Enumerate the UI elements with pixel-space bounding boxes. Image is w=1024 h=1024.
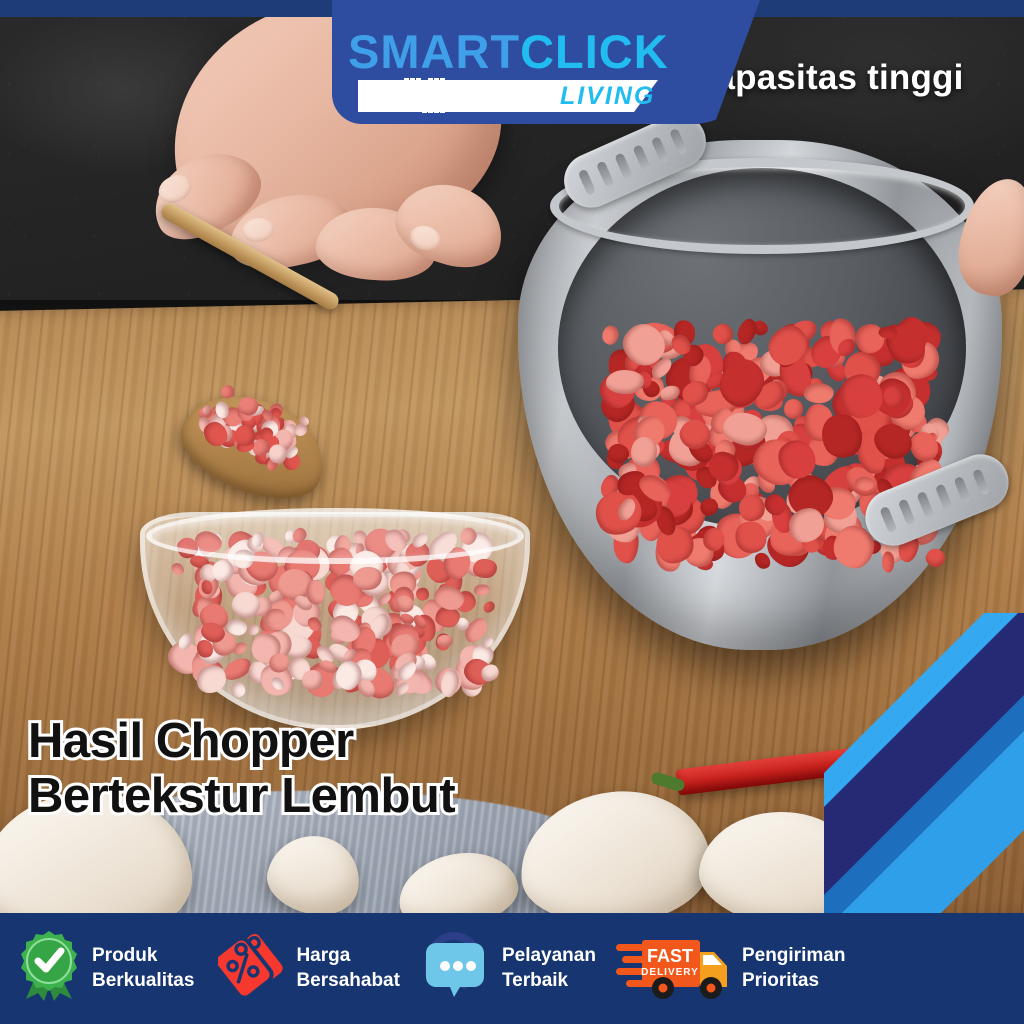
brand-name-smart: SMART <box>348 25 520 78</box>
pixel-block <box>440 96 445 101</box>
pixel-block <box>440 108 445 113</box>
feature-label: Pelayanan Terbaik <box>502 944 596 993</box>
grip-rib <box>898 498 916 525</box>
meat-crumb <box>606 370 644 394</box>
feature-label-line2: Berkualitas <box>92 970 194 991</box>
pixel-block <box>416 96 421 101</box>
pixel-block <box>434 108 439 113</box>
grip-rib <box>916 491 934 518</box>
price-tag-icon <box>218 931 286 1006</box>
feature-label-line1: Pelayanan <box>502 945 596 966</box>
grip-rib <box>632 144 651 171</box>
meat-crumb <box>169 560 187 577</box>
pixel-block <box>416 78 421 83</box>
feature-pengiriman-prioritas: FAST DELIVERY Pengiriman Prioritas <box>616 930 845 1007</box>
truck-text-fast: FAST <box>647 946 693 966</box>
feature-label-line1: Produk <box>92 945 157 966</box>
brand-logo[interactable]: SMARTCLICK <box>348 28 669 75</box>
feature-harga-bersahabat: Harga Bersahabat <box>218 931 400 1006</box>
grip-rib <box>953 476 971 503</box>
pixel-block <box>398 84 403 89</box>
meat-crumb <box>218 383 236 401</box>
pixel-block <box>416 102 421 107</box>
pixel-block <box>422 108 427 113</box>
feature-footer-bar: Produk Berkualitas <box>0 913 1024 1024</box>
pixel-block <box>410 78 415 83</box>
meat-crumb <box>228 679 248 699</box>
pixel-block <box>404 78 409 83</box>
pixel-block <box>404 102 409 107</box>
feature-produk-berkualitas: Produk Berkualitas <box>16 929 194 1008</box>
headline-line-1: Hasil Chopper <box>28 714 455 769</box>
feature-label-line2: Terbaik <box>502 970 568 991</box>
pixel-block <box>392 102 397 107</box>
brand-tagline: LIVING <box>560 84 655 109</box>
fast-delivery-truck-icon: FAST DELIVERY <box>616 930 732 1007</box>
feature-label-line1: Harga <box>296 945 350 966</box>
feature-pelayanan-terbaik: Pelayanan Terbaik <box>422 929 596 1008</box>
pixel-block <box>440 102 445 107</box>
pixel-block <box>404 84 409 89</box>
pixel-block <box>428 102 433 107</box>
grip-rib <box>578 169 597 196</box>
product-photo <box>0 0 1024 1024</box>
pixel-block <box>410 84 415 89</box>
pixel-block <box>410 96 415 101</box>
feature-label: Pengiriman Prioritas <box>742 944 845 993</box>
truck-text-delivery: DELIVERY <box>641 967 699 978</box>
grip-rib <box>935 483 953 510</box>
brand-name-click: CLICK <box>520 25 669 78</box>
grip-rib <box>614 152 633 179</box>
headline-line-2: Bertekstur Lembut <box>28 769 455 824</box>
meat-crumb <box>472 558 496 578</box>
feature-label-line2: Prioritas <box>742 970 819 991</box>
grip-rib <box>972 468 990 495</box>
pixel-block <box>428 90 433 95</box>
main-headline: Hasil Chopper Bertekstur Lembut <box>28 714 455 824</box>
meat-crumb <box>600 324 620 347</box>
grip-rib <box>879 506 897 533</box>
feature-label: Harga Bersahabat <box>296 944 400 993</box>
pixel-block <box>428 78 433 83</box>
meat-crumb <box>882 552 894 573</box>
feature-label-line2: Bersahabat <box>296 970 400 991</box>
pixel-block <box>440 78 445 83</box>
grip-rib <box>651 136 670 163</box>
feature-label: Produk Berkualitas <box>92 944 194 993</box>
steel-bowl <box>500 120 1020 680</box>
pixel-block <box>434 78 439 83</box>
pixel-block <box>398 90 403 95</box>
pixel-block <box>428 96 433 101</box>
pixel-block <box>428 108 433 113</box>
meat-crumb <box>923 546 947 569</box>
meat-crumb <box>473 583 490 596</box>
glass-bowl-rim <box>146 508 524 564</box>
meat-crumb <box>803 383 833 404</box>
pixel-block <box>428 84 433 89</box>
pixel-block <box>440 84 445 89</box>
grip-rib <box>596 161 615 188</box>
quality-badge-icon <box>16 929 82 1008</box>
feature-label-line1: Pengiriman <box>742 945 845 966</box>
meat-crumb <box>631 437 658 467</box>
grip-rib <box>669 128 688 155</box>
chat-headset-icon <box>422 929 492 1008</box>
meat-crumb <box>481 599 496 614</box>
pixel-dissolve-icon <box>362 78 448 114</box>
meat-crumb <box>437 635 453 647</box>
pixel-block <box>440 90 445 95</box>
pixel-block <box>410 90 415 95</box>
pixel-block <box>422 84 427 89</box>
promo-image: Kapasitas tinggi SMARTCLICK LIVING Hasil… <box>0 0 1024 1024</box>
